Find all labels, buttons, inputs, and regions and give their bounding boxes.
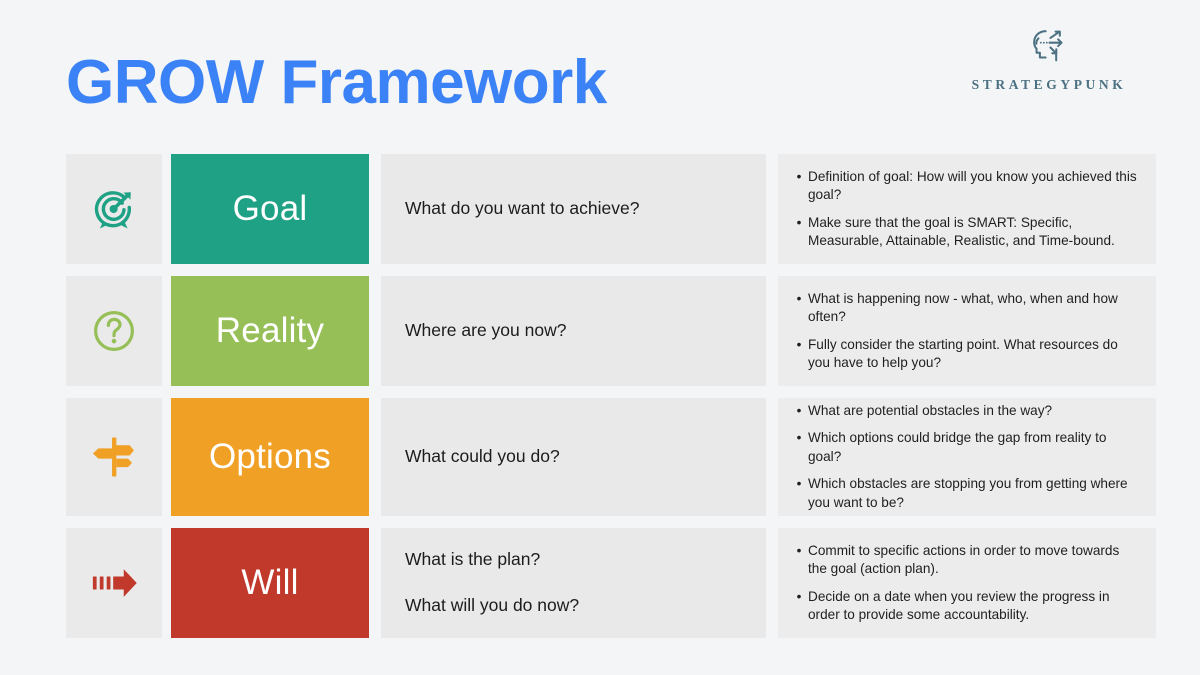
row-options: Options What could you do? • What are po… xyxy=(66,398,1156,516)
bullets-cell-will: • Commit to specific actions in order to… xyxy=(778,528,1156,638)
label-reality-text: Reality xyxy=(216,311,324,351)
question-line: Where are you now? xyxy=(405,319,742,343)
bullets-cell-options: • What are potential obstacles in the wa… xyxy=(778,398,1156,516)
bullet-marker: • xyxy=(790,475,808,493)
bullet-text: Which options could bridge the gap from … xyxy=(808,429,1140,466)
bullet-item: • Which options could bridge the gap fro… xyxy=(790,429,1140,466)
bullet-marker: • xyxy=(790,429,808,447)
label-will: Will xyxy=(171,528,369,638)
icon-cell-options xyxy=(66,398,162,516)
bullet-item: • What is happening now - what, who, whe… xyxy=(790,290,1140,327)
bullet-text: Make sure that the goal is SMART: Specif… xyxy=(808,214,1140,251)
icon-cell-will xyxy=(66,528,162,638)
signpost-icon xyxy=(89,432,139,482)
row-goal: Goal What do you want to achieve? • Defi… xyxy=(66,154,1156,264)
question-line: What could you do? xyxy=(405,445,742,469)
bullets-cell-reality: • What is happening now - what, who, whe… xyxy=(778,276,1156,386)
question-line: What do you want to achieve? xyxy=(405,197,742,221)
question-mark-circle-icon xyxy=(90,307,138,355)
bullet-marker: • xyxy=(790,168,808,186)
brand-logo: STRATEGYPUNK xyxy=(960,24,1138,93)
bullet-text: Which obstacles are stopping you from ge… xyxy=(808,475,1140,512)
brand-name: STRATEGYPUNK xyxy=(972,77,1127,93)
bullet-text: Decide on a date when you review the pro… xyxy=(808,588,1140,625)
label-options-text: Options xyxy=(209,437,331,477)
question-line: What will you do now? xyxy=(405,594,742,618)
row-will: Will What is the plan? What will you do … xyxy=(66,528,1156,638)
bullet-item: • Fully consider the starting point. Wha… xyxy=(790,336,1140,373)
bullet-text: What is happening now - what, who, when … xyxy=(808,290,1140,327)
bullet-text: Commit to specific actions in order to m… xyxy=(808,542,1140,579)
label-reality: Reality xyxy=(171,276,369,386)
question-cell-options: What could you do? xyxy=(381,398,766,516)
grow-framework-grid: Goal What do you want to achieve? • Defi… xyxy=(66,154,1156,638)
bullets-cell-goal: • Definition of goal: How will you know … xyxy=(778,154,1156,264)
row-reality: Reality Where are you now? • What is hap… xyxy=(66,276,1156,386)
bullet-marker: • xyxy=(790,402,808,420)
forward-arrow-motion-icon xyxy=(88,557,140,609)
bullet-text: Fully consider the starting point. What … xyxy=(808,336,1140,373)
bullet-text: What are potential obstacles in the way? xyxy=(808,402,1140,420)
bullet-item: • Make sure that the goal is SMART: Spec… xyxy=(790,214,1140,251)
bullet-marker: • xyxy=(790,542,808,560)
label-will-text: Will xyxy=(241,563,298,603)
bullet-text: Definition of goal: How will you know yo… xyxy=(808,168,1140,205)
label-goal-text: Goal xyxy=(233,189,308,229)
target-arrow-icon xyxy=(89,184,139,234)
question-cell-reality: Where are you now? xyxy=(381,276,766,386)
head-with-arrows-icon xyxy=(1026,24,1072,70)
label-goal: Goal xyxy=(171,154,369,264)
page-title: GROW Framework xyxy=(66,52,607,114)
bullet-marker: • xyxy=(790,290,808,308)
question-line: What is the plan? xyxy=(405,548,742,572)
bullet-item: • Commit to specific actions in order to… xyxy=(790,542,1140,579)
bullet-marker: • xyxy=(790,588,808,606)
icon-cell-reality xyxy=(66,276,162,386)
label-options: Options xyxy=(171,398,369,516)
bullet-item: • What are potential obstacles in the wa… xyxy=(790,402,1140,420)
bullet-marker: • xyxy=(790,214,808,232)
bullet-item: • Decide on a date when you review the p… xyxy=(790,588,1140,625)
icon-cell-goal xyxy=(66,154,162,264)
question-cell-goal: What do you want to achieve? xyxy=(381,154,766,264)
bullet-marker: • xyxy=(790,336,808,354)
bullet-item: • Which obstacles are stopping you from … xyxy=(790,475,1140,512)
question-cell-will: What is the plan? What will you do now? xyxy=(381,528,766,638)
bullet-item: • Definition of goal: How will you know … xyxy=(790,168,1140,205)
